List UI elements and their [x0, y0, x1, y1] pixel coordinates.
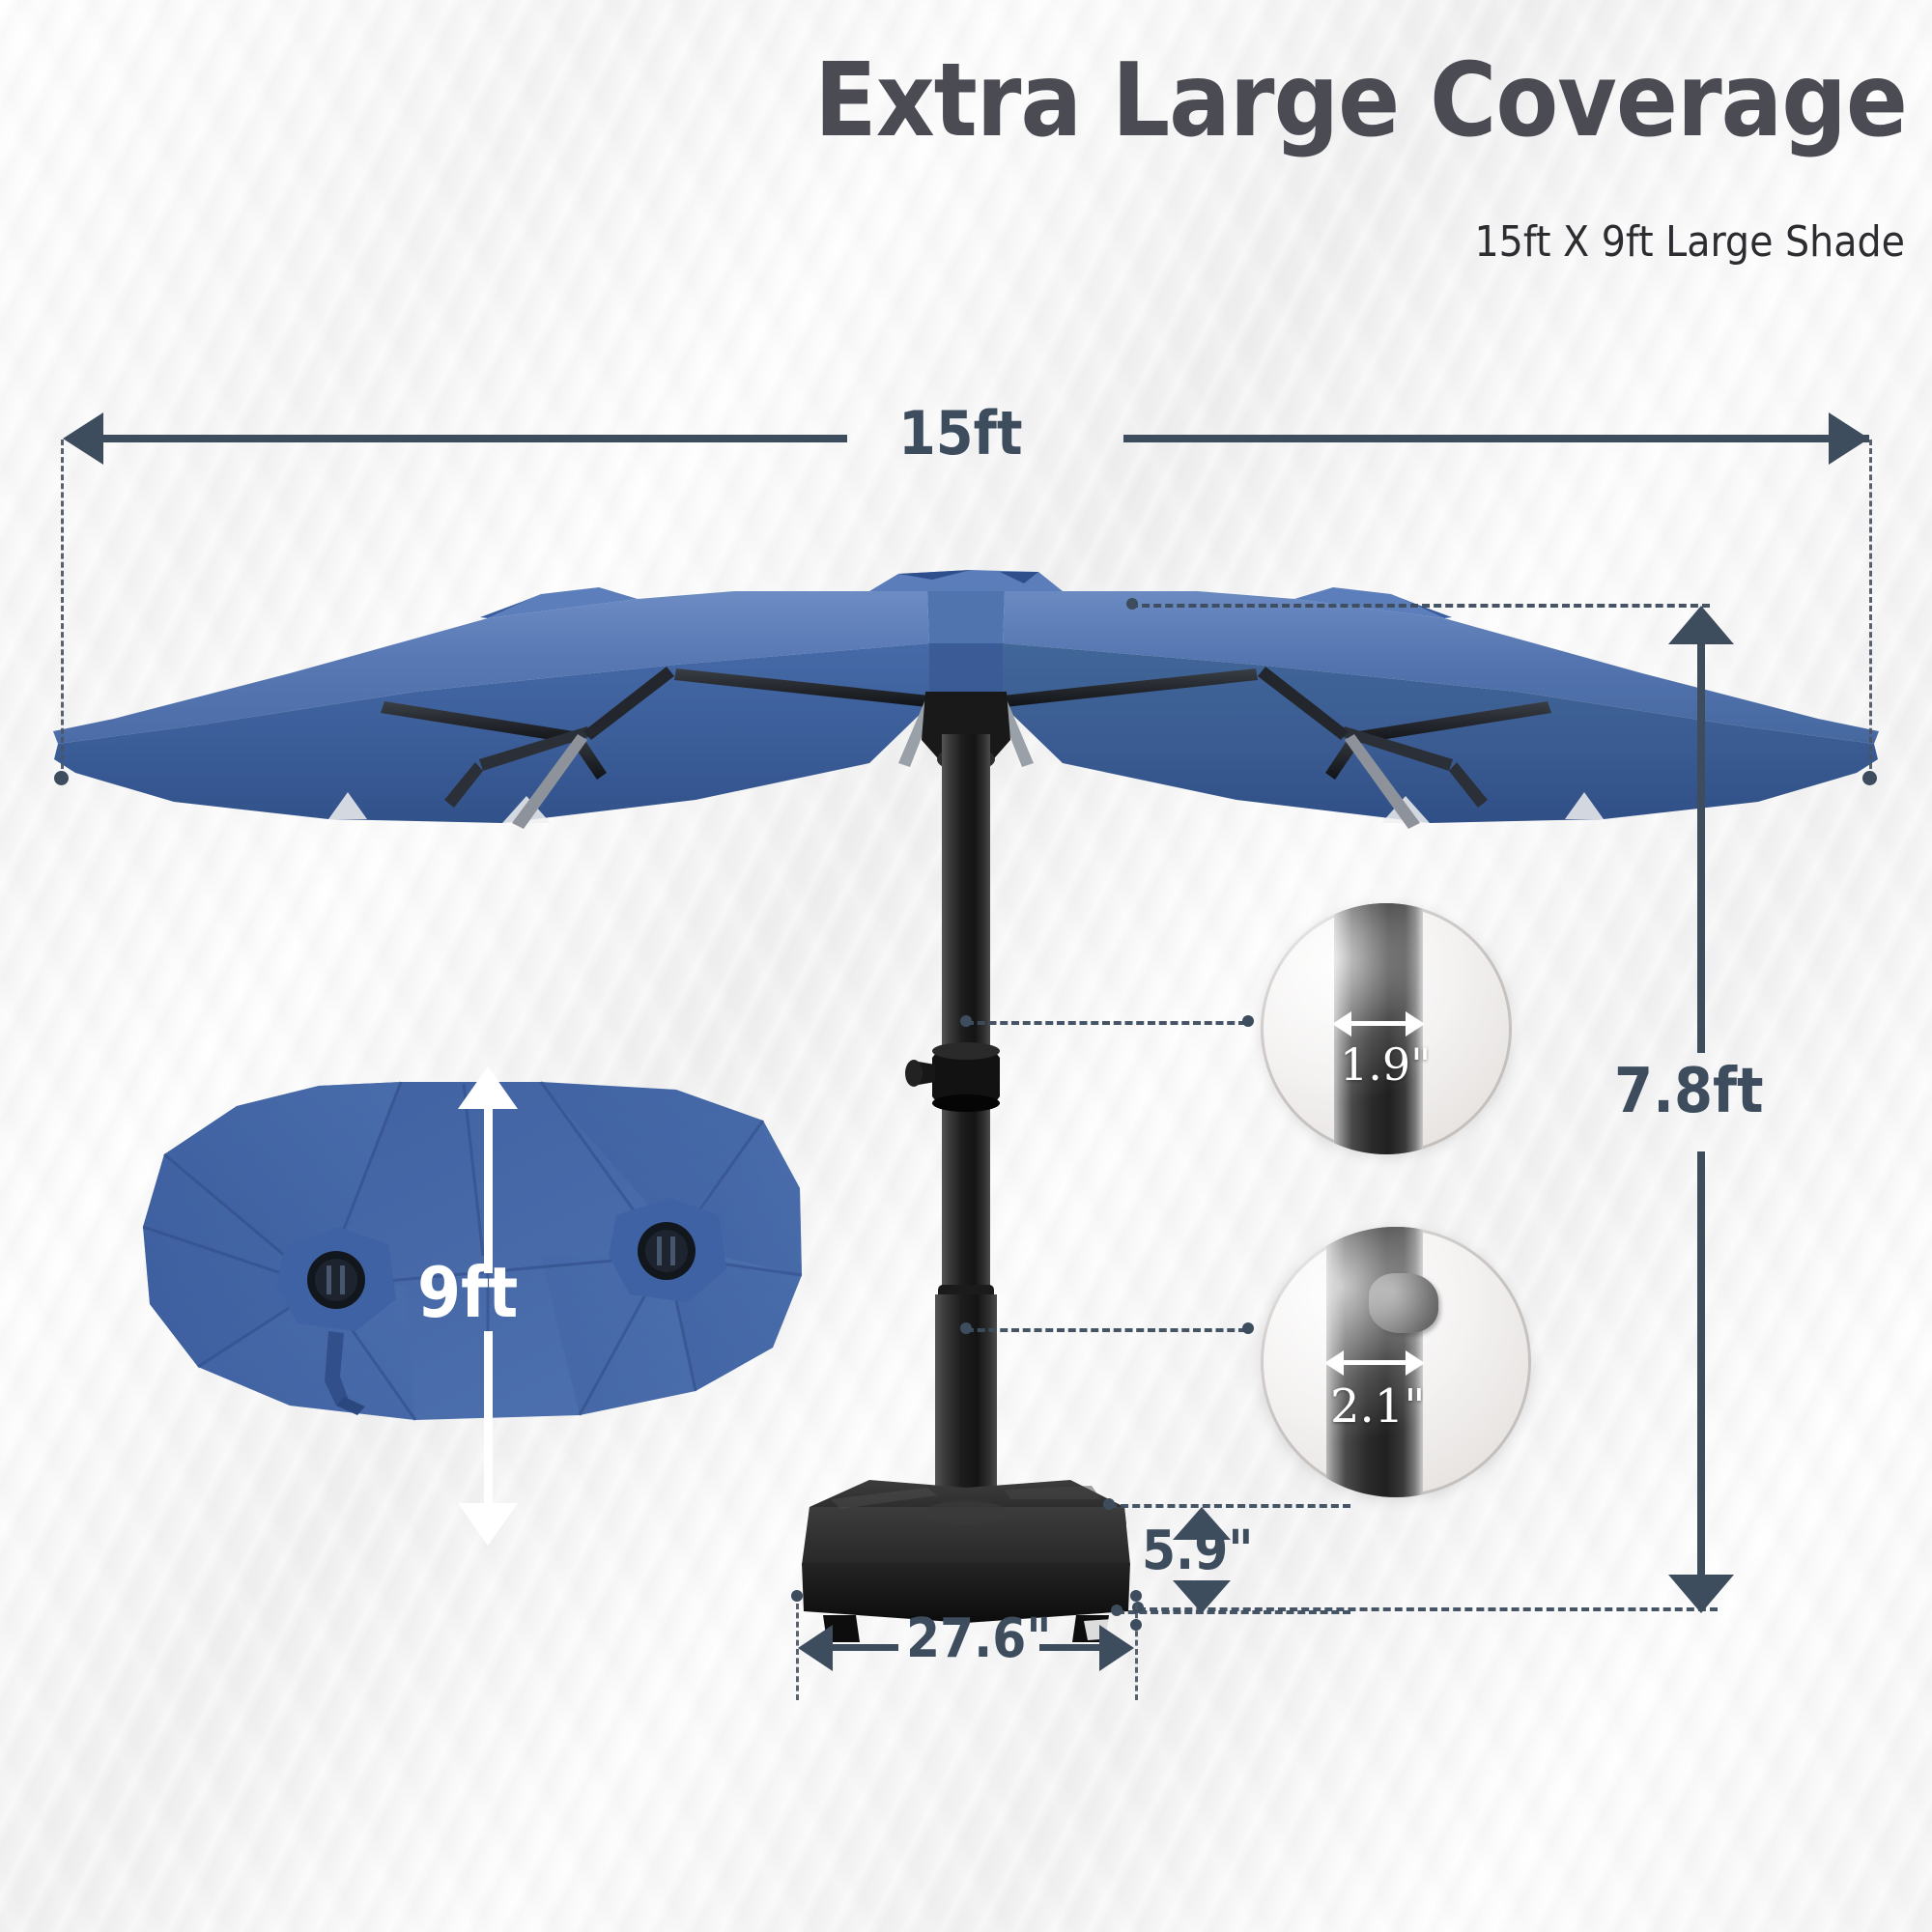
- bubble1-arrow-right-head: [1406, 1011, 1425, 1037]
- base-height-guide-bottom: [1117, 1610, 1350, 1614]
- base-height-label: 5.9": [1142, 1520, 1254, 1582]
- base-width-bar-right: [1039, 1644, 1099, 1651]
- base-width-bar-left: [833, 1644, 898, 1651]
- base-width-arrow-right: [1099, 1625, 1134, 1671]
- width-label: 15ft: [898, 398, 1023, 469]
- base-width-guide-right-dot: [1130, 1590, 1142, 1602]
- nine-ft-arrow-up: [458, 1066, 518, 1109]
- lower-pole-leader: [966, 1328, 1246, 1332]
- height-guide-top-dot: [1126, 598, 1138, 610]
- nine-ft-arrow-down: [458, 1503, 518, 1546]
- height-bar-upper: [1697, 642, 1705, 1053]
- upper-pole-leader: [966, 1021, 1246, 1025]
- upper-pole-diameter-label: 1.9": [1340, 1038, 1431, 1091]
- height-guide-top: [1130, 604, 1710, 608]
- lower-pole-magnifier: 2.1": [1261, 1227, 1531, 1497]
- width-guide-left-dot: [54, 771, 69, 785]
- width-bar-right: [1123, 435, 1869, 442]
- base-height-guide-bottom-dot: [1111, 1605, 1122, 1616]
- width-guide-right: [1869, 440, 1872, 778]
- bubble2-arrow-shaft: [1340, 1360, 1415, 1365]
- height-bar-lower: [1697, 1151, 1705, 1577]
- height-label: 7.8ft: [1614, 1056, 1764, 1127]
- width-bar-left: [103, 435, 847, 442]
- base-height-arrow-down: [1173, 1580, 1231, 1613]
- upper-pole-leader-dot-left: [960, 1015, 972, 1027]
- width-guide-right-dot: [1862, 771, 1877, 785]
- upper-pole-leader-dot-right: [1242, 1015, 1254, 1027]
- base-width-guide-left-dot: [791, 1590, 803, 1602]
- height-arrow-up-head: [1668, 606, 1734, 644]
- canopy-depth-label: 9ft: [417, 1252, 518, 1333]
- width-arrow-left-head: [63, 412, 103, 465]
- base-height-guide-top-dot: [1103, 1498, 1115, 1510]
- bubble2-arrow-right-head: [1406, 1350, 1425, 1376]
- upper-pole-magnifier: 1.9": [1261, 903, 1512, 1154]
- magnified-tilt-knob: [1369, 1273, 1438, 1333]
- base-width-label: 27.6": [906, 1607, 1052, 1670]
- base-width-guide-right: [1135, 1604, 1138, 1700]
- nine-ft-arrow-shaft-upper: [484, 1107, 493, 1273]
- lower-pole-leader-dot-right: [1242, 1322, 1254, 1334]
- width-guide-left: [61, 440, 64, 778]
- width-arrow-right-head: [1829, 412, 1869, 465]
- lower-pole-diameter-label: 2.1": [1330, 1379, 1425, 1434]
- height-arrow-down-head: [1668, 1575, 1734, 1613]
- base-width-arrow-left: [798, 1625, 833, 1671]
- lower-pole-leader-dot-left: [960, 1322, 972, 1334]
- nine-ft-arrow-shaft-lower: [484, 1331, 493, 1505]
